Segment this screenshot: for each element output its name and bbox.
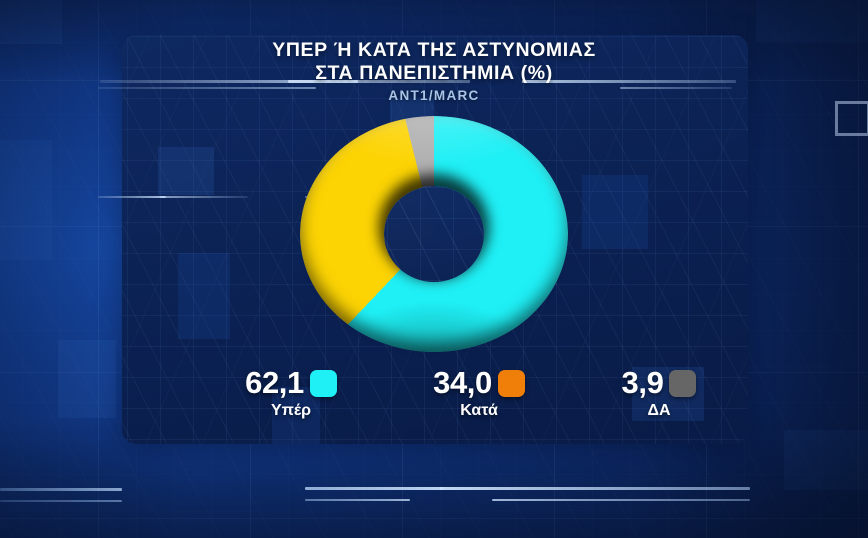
- legend-item-da[interactable]: 3,9 ΔΑ: [564, 366, 754, 420]
- donut-chart: [300, 116, 568, 352]
- accent-line: [98, 196, 166, 198]
- page-title-line2: ΣΤΑ ΠΑΝΕΠΙΣΤΗΜΙΑ (%): [0, 62, 868, 85]
- legend-value: 3,9: [622, 366, 664, 400]
- legend-item-yper[interactable]: 62,1 Υπέρ: [196, 366, 386, 420]
- accent-line: [0, 500, 122, 502]
- page-title-line1: ΥΠΕΡ Ή ΚΑΤΑ ΤΗΣ ΑΣΤΥΝΟΜΙΑΣ: [0, 39, 868, 62]
- accent-line: [305, 487, 443, 490]
- donut-hole-diagonals: [384, 186, 484, 282]
- chart-legend: 62,1 Υπέρ 34,0 Κατά 3,9 ΔΑ: [122, 366, 748, 444]
- donut-center-hole: [384, 186, 484, 282]
- legend-label: Υπέρ: [196, 402, 386, 420]
- panel-decor-block: [178, 253, 230, 339]
- panel-decor-block: [582, 175, 648, 249]
- chart-title-block: ΥΠΕΡ Ή ΚΑΤΑ ΤΗΣ ΑΣΤΥΝΟΜΙΑΣ ΣΤΑ ΠΑΝΕΠΙΣΤΗ…: [0, 39, 868, 103]
- panel-decor-block: [158, 147, 214, 195]
- legend-item-kata[interactable]: 34,0 Κατά: [384, 366, 574, 420]
- square-outline-icon: [835, 101, 868, 136]
- accent-line: [160, 196, 248, 198]
- legend-color-swatch-cyan: [310, 370, 337, 397]
- accent-line: [305, 499, 410, 501]
- accent-line: [440, 487, 750, 490]
- legend-value: 34,0: [433, 366, 492, 400]
- legend-value: 62,1: [245, 366, 304, 400]
- legend-color-swatch-gray: [669, 370, 696, 397]
- legend-label: ΔΑ: [564, 402, 754, 420]
- accent-line: [492, 499, 750, 501]
- legend-color-swatch-orange: [498, 370, 525, 397]
- legend-label: Κατά: [384, 402, 574, 420]
- accent-line: [0, 488, 122, 491]
- broadcast-graphic: ΥΠΕΡ Ή ΚΑΤΑ ΤΗΣ ΑΣΤΥΝΟΜΙΑΣ ΣΤΑ ΠΑΝΕΠΙΣΤΗ…: [0, 0, 868, 538]
- chart-source-label: ΑΝΤ1/MARC: [0, 88, 868, 103]
